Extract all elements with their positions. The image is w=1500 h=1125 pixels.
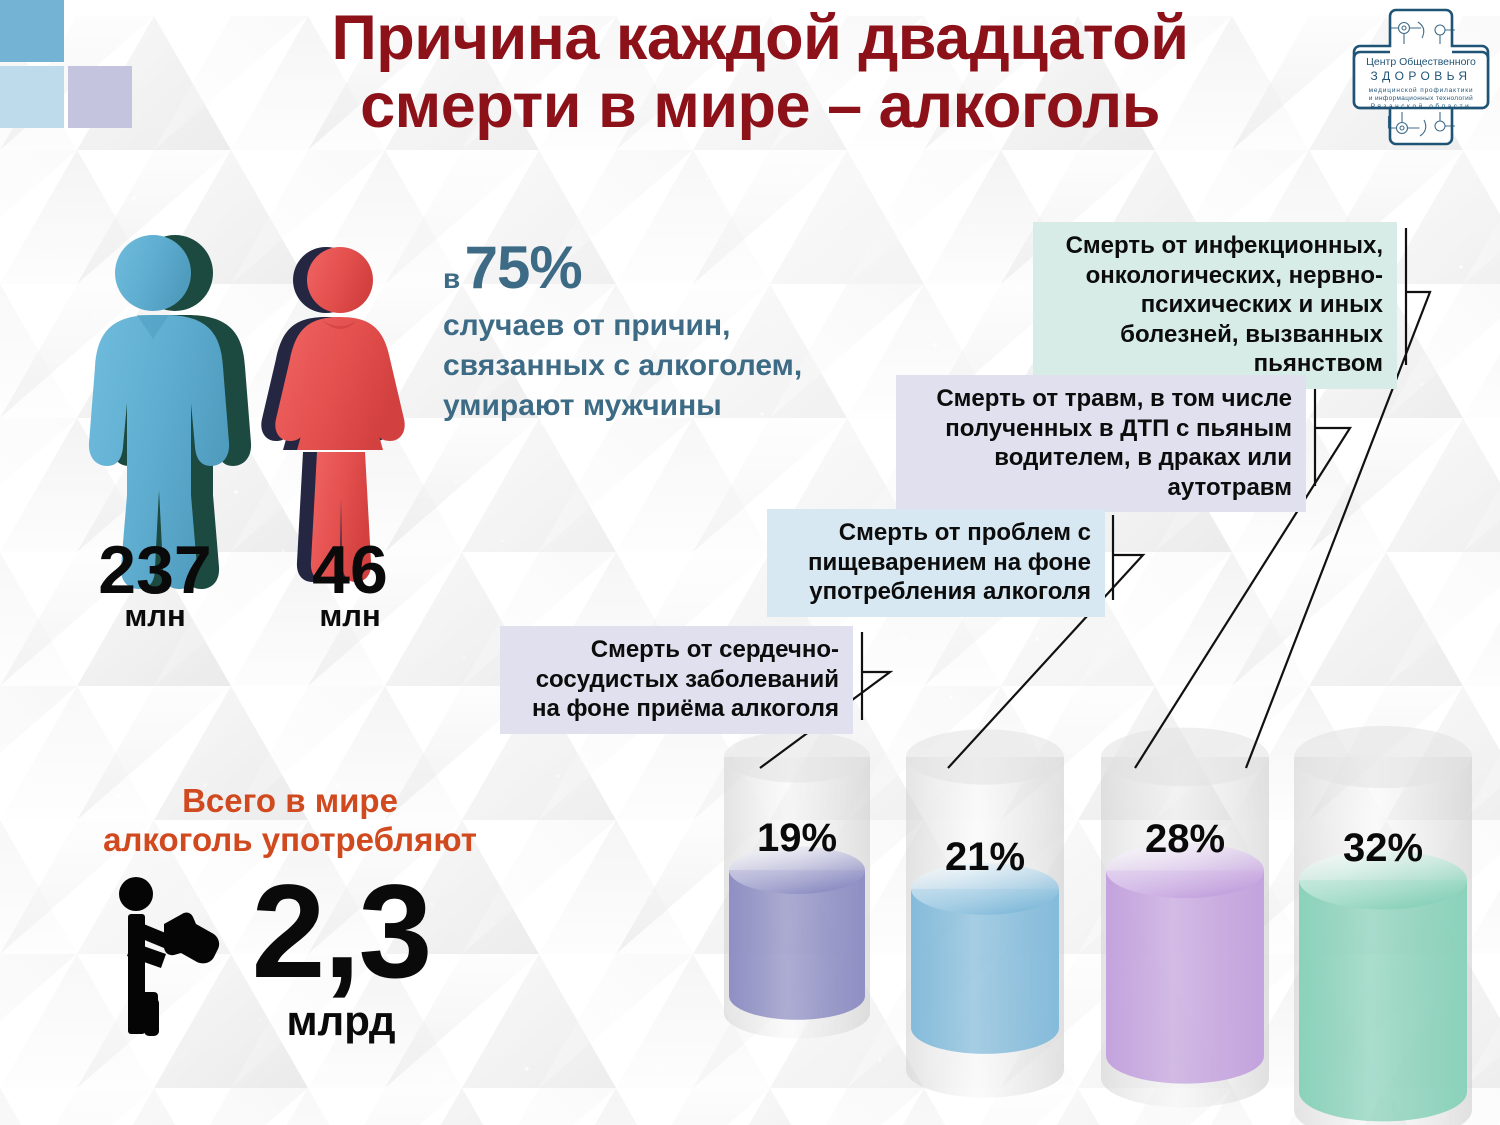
total-consumers-heading: Всего в мире алкоголь употребляют — [60, 782, 520, 860]
callout-infectious-oncologic-line-1: онкологических, нервно- — [1047, 261, 1383, 291]
callout-cardiovascular: Смерть от сердечно-сосудистых заболевани… — [500, 626, 853, 734]
total-heading-line-2: алкоголь употребляют — [60, 821, 520, 860]
cylinder-percent-label-0: 19% — [727, 818, 867, 858]
infographic-poster: Причина каждой двадцатой смерти в мире –… — [0, 0, 1500, 1125]
callout-injuries-line-1: полученных в ДТП с пьяным — [910, 414, 1292, 444]
callout-infectious-oncologic: Смерть от инфекционных,онкологических, н… — [1033, 222, 1397, 389]
callout-digestive-line-0: Смерть от проблем с — [781, 518, 1091, 548]
cylinder-percent-label-2: 28% — [1115, 819, 1255, 859]
callout-infectious-oncologic-line-3: болезней, вызванных — [1047, 320, 1383, 350]
callout-injuries-line-2: водителем, в драках или — [910, 443, 1292, 473]
callout-cardiovascular-line-1: сосудистых заболеваний — [514, 665, 839, 695]
callout-cardiovascular-line-2: на фоне приёма алкоголя — [514, 694, 839, 724]
callout-infectious-oncologic-line-2: психических и иных — [1047, 290, 1383, 320]
callout-digestive-line-1: пищеварением на фоне — [781, 548, 1091, 578]
callout-injuries-line-0: Смерть от травм, в том числе — [910, 384, 1292, 414]
total-consumers-unit: млрд — [236, 1000, 446, 1042]
person-drinking-bottle-icon — [104, 868, 232, 1046]
callout-injuries-line-3: аутотравм — [910, 473, 1292, 503]
cylinder-percent-label-3: 32% — [1313, 828, 1453, 868]
total-consumers-value: 2,3 — [236, 866, 446, 999]
total-heading-line-1: Всего в мире — [60, 782, 520, 821]
callout-infectious-oncologic-line-0: Смерть от инфекционных, — [1047, 231, 1383, 261]
callout-cardiovascular-line-0: Смерть от сердечно- — [514, 635, 839, 665]
callout-digestive: Смерть от проблем спищеварением на фонеу… — [767, 509, 1105, 617]
cylinder-percent-label-1: 21% — [915, 837, 1055, 877]
callout-injuries: Смерть от травм, в том числеполученных в… — [896, 375, 1306, 512]
callout-digestive-line-2: употребления алкоголя — [781, 577, 1091, 607]
